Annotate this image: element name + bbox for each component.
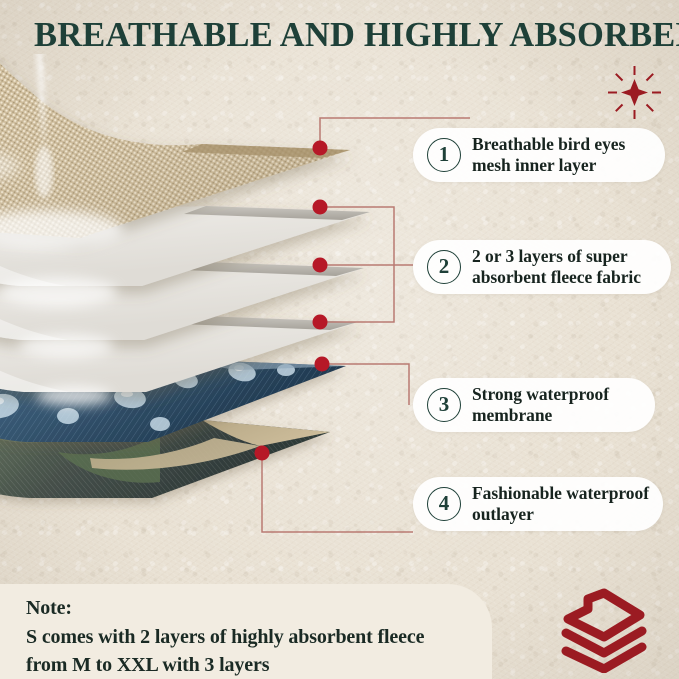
note-line2: from M to XXL with 3 layers: [26, 651, 476, 679]
callout-2[interactable]: 2 2 or 3 layers of super absorbent fleec…: [413, 240, 671, 294]
callout-1[interactable]: 1 Breathable bird eyes mesh inner layer: [413, 128, 665, 182]
callout-4-text: Fashionable waterproof outlayer: [472, 483, 663, 526]
callout-1-line2: mesh inner layer: [472, 155, 625, 177]
callout-2-line2: absorbent fleece fabric: [472, 267, 641, 289]
note-line1: S comes with 2 layers of highly absorben…: [26, 623, 476, 652]
callout-4[interactable]: 4 Fashionable waterproof outlayer: [413, 477, 663, 531]
callout-3-line2: membrane: [472, 405, 609, 427]
callout-2-number: 2: [427, 250, 461, 284]
callout-4-line1: Fashionable waterproof: [472, 483, 649, 505]
note-panel: Note: S comes with 2 layers of highly ab…: [0, 584, 492, 679]
callout-3-text: Strong waterproof membrane: [472, 384, 623, 427]
fabric-layer-stack: [0, 54, 390, 514]
callout-2-text: 2 or 3 layers of super absorbent fleece …: [472, 246, 655, 289]
callout-2-line1: 2 or 3 layers of super: [472, 246, 641, 268]
callout-1-number: 1: [427, 138, 461, 172]
infographic-page: BREATHABLE AND HIGHLY ABSORBENT: [0, 0, 679, 679]
note-label: Note:: [26, 594, 476, 623]
sparkle-star-icon: [606, 64, 663, 121]
note-text: Note: S comes with 2 layers of highly ab…: [26, 594, 476, 679]
callout-3-number: 3: [427, 388, 461, 422]
callout-3[interactable]: 3 Strong waterproof membrane: [413, 378, 655, 432]
callout-4-number: 4: [427, 487, 461, 521]
stacked-layers-icon: [548, 585, 660, 673]
callout-4-line2: outlayer: [472, 504, 649, 526]
callout-3-line1: Strong waterproof: [472, 384, 609, 406]
page-title: BREATHABLE AND HIGHLY ABSORBENT: [34, 14, 649, 56]
callout-1-text: Breathable bird eyes mesh inner layer: [472, 134, 639, 177]
callout-1-line1: Breathable bird eyes: [472, 134, 625, 156]
